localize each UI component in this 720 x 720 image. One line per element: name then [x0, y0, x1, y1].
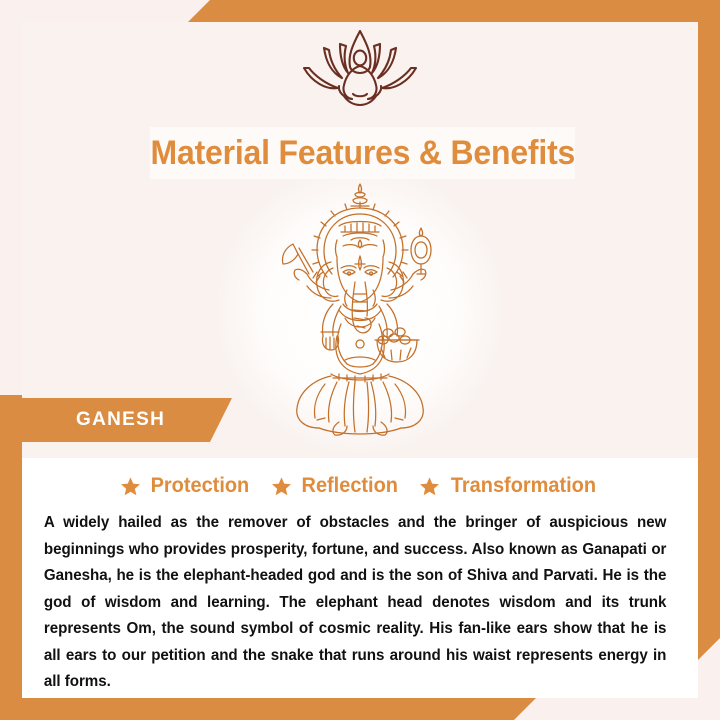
feature-label: Transformation: [451, 474, 596, 498]
feature-list: Protection Reflection Transformation: [36, 474, 684, 498]
star-icon: [271, 476, 292, 497]
lotus-meditation-icon: [0, 26, 720, 117]
feature-item-protection: Protection: [120, 474, 252, 498]
content-card: Protection Reflection Transformation: [22, 458, 698, 698]
feature-item-reflection: Reflection: [271, 474, 401, 498]
feature-label: Protection: [150, 474, 249, 498]
section-name-label: GANESH: [76, 409, 165, 431]
feature-item-transformation: Transformation: [419, 474, 600, 498]
description-paragraph: A widely hailed as the remover of obstac…: [36, 510, 674, 696]
frame-bar-bottom: [0, 698, 720, 720]
star-icon: [120, 476, 141, 497]
feature-label: Reflection: [301, 474, 397, 498]
brand-logo: BUDDHA STONES: [0, 26, 720, 143]
frame-bar-top: [0, 0, 720, 22]
title-ribbon: Material Features & Benefits: [150, 127, 575, 179]
section-name-banner: GANESH: [22, 398, 232, 442]
ganesh-illustration: [255, 178, 465, 443]
frame-bar-left: [0, 395, 22, 720]
poster-root: BUDDHA STONES Material Features & Benefi…: [0, 0, 720, 720]
star-icon: [419, 476, 440, 497]
page-title: Material Features & Benefits: [150, 134, 575, 173]
